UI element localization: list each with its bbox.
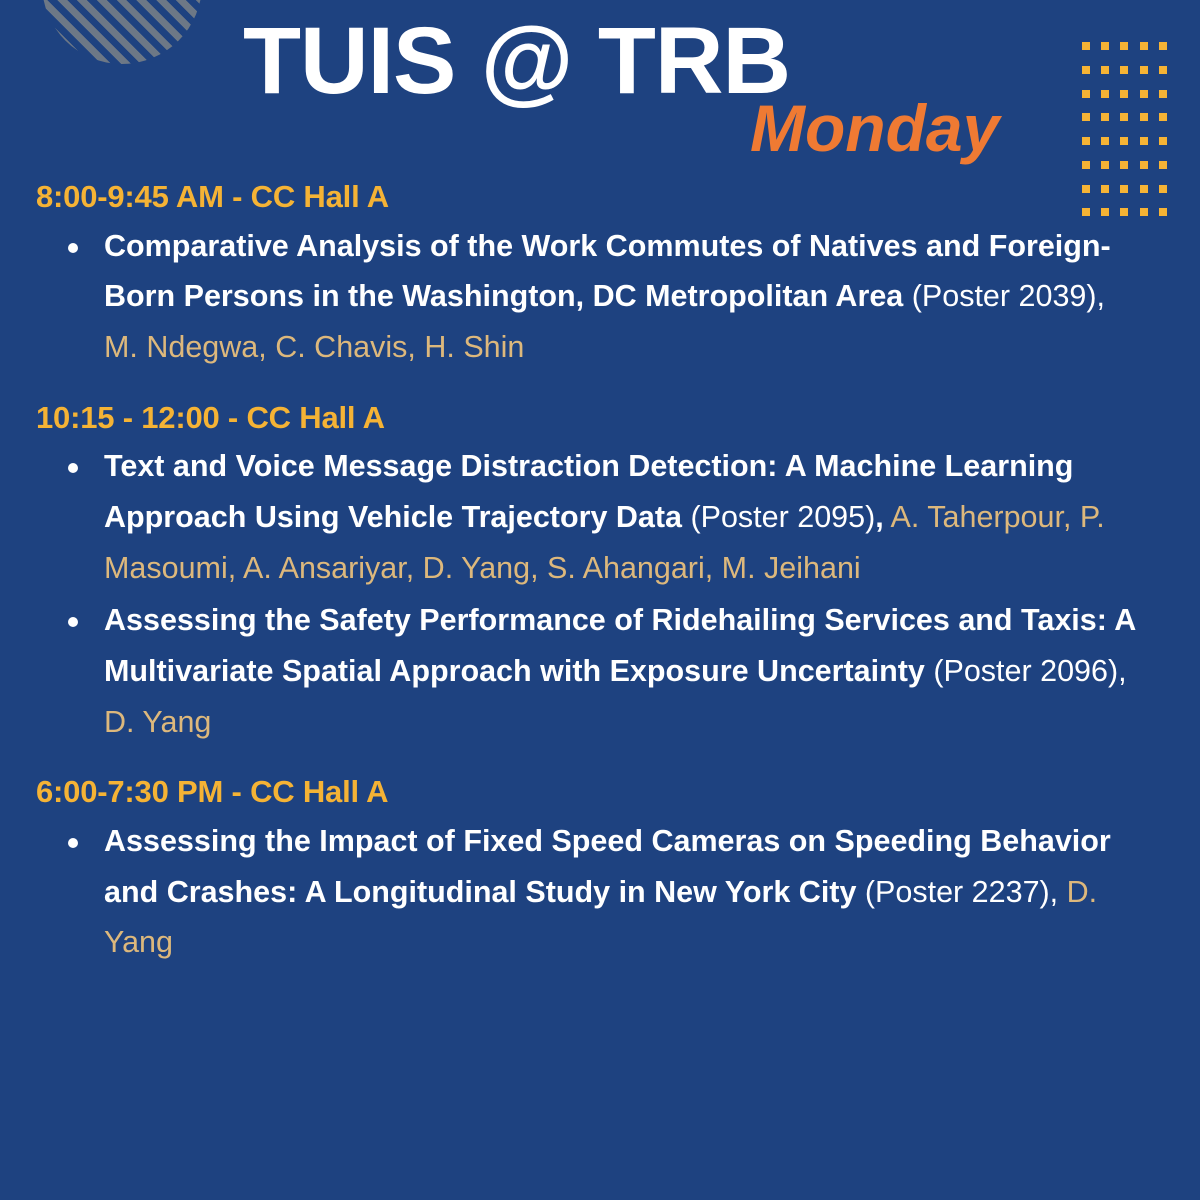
- paper-entry[interactable]: Comparative Analysis of the Work Commute…: [0, 221, 1200, 373]
- paper-authors: M. Ndegwa, C. Chavis, H. Shin: [104, 330, 524, 364]
- session-block: 8:00-9:45 AM - CC Hall A Comparative Ana…: [0, 178, 1200, 373]
- paper-poster-number: (Poster 2095): [682, 500, 875, 534]
- session-block: 10:15 - 12:00 - CC Hall AText and Voice …: [0, 399, 1200, 748]
- session-heading: 10:15 - 12:00 - CC Hall A: [0, 399, 1200, 438]
- paper-entry[interactable]: Text and Voice Message Distraction Detec…: [0, 441, 1200, 593]
- paper-list: Comparative Analysis of the Work Commute…: [0, 221, 1200, 373]
- paper-poster-number: (Poster 2237),: [856, 875, 1058, 909]
- paper-poster-number: (Poster 2096),: [925, 654, 1127, 688]
- session-heading: 6:00-7:30 PM - CC Hall A: [0, 773, 1200, 812]
- poster-header: TUIS @ TRB Monday: [0, 0, 1200, 180]
- paper-entry[interactable]: Assessing the Impact of Fixed Speed Came…: [0, 816, 1200, 968]
- session-heading: 8:00-9:45 AM - CC Hall A: [0, 178, 1200, 217]
- poster-title: TUIS @ TRB: [243, 12, 790, 112]
- session-block: 6:00-7:30 PM - CC Hall AAssessing the Im…: [0, 773, 1200, 968]
- paper-list: Assessing the Impact of Fixed Speed Came…: [0, 816, 1200, 968]
- paper-authors: D. Yang: [104, 705, 211, 739]
- session-list: 8:00-9:45 AM - CC Hall A Comparative Ana…: [0, 178, 1200, 994]
- poster-day-label: Monday: [750, 95, 999, 161]
- paper-entry[interactable]: Assessing the Safety Performance of Ride…: [0, 595, 1200, 747]
- poster-canvas: TUIS @ TRB Monday 8:00-9:45 AM - CC Hall…: [0, 0, 1200, 1200]
- paper-poster-number: (Poster 2039),: [903, 279, 1105, 313]
- paper-list: Text and Voice Message Distraction Detec…: [0, 441, 1200, 747]
- paper-separator: ,: [875, 500, 883, 534]
